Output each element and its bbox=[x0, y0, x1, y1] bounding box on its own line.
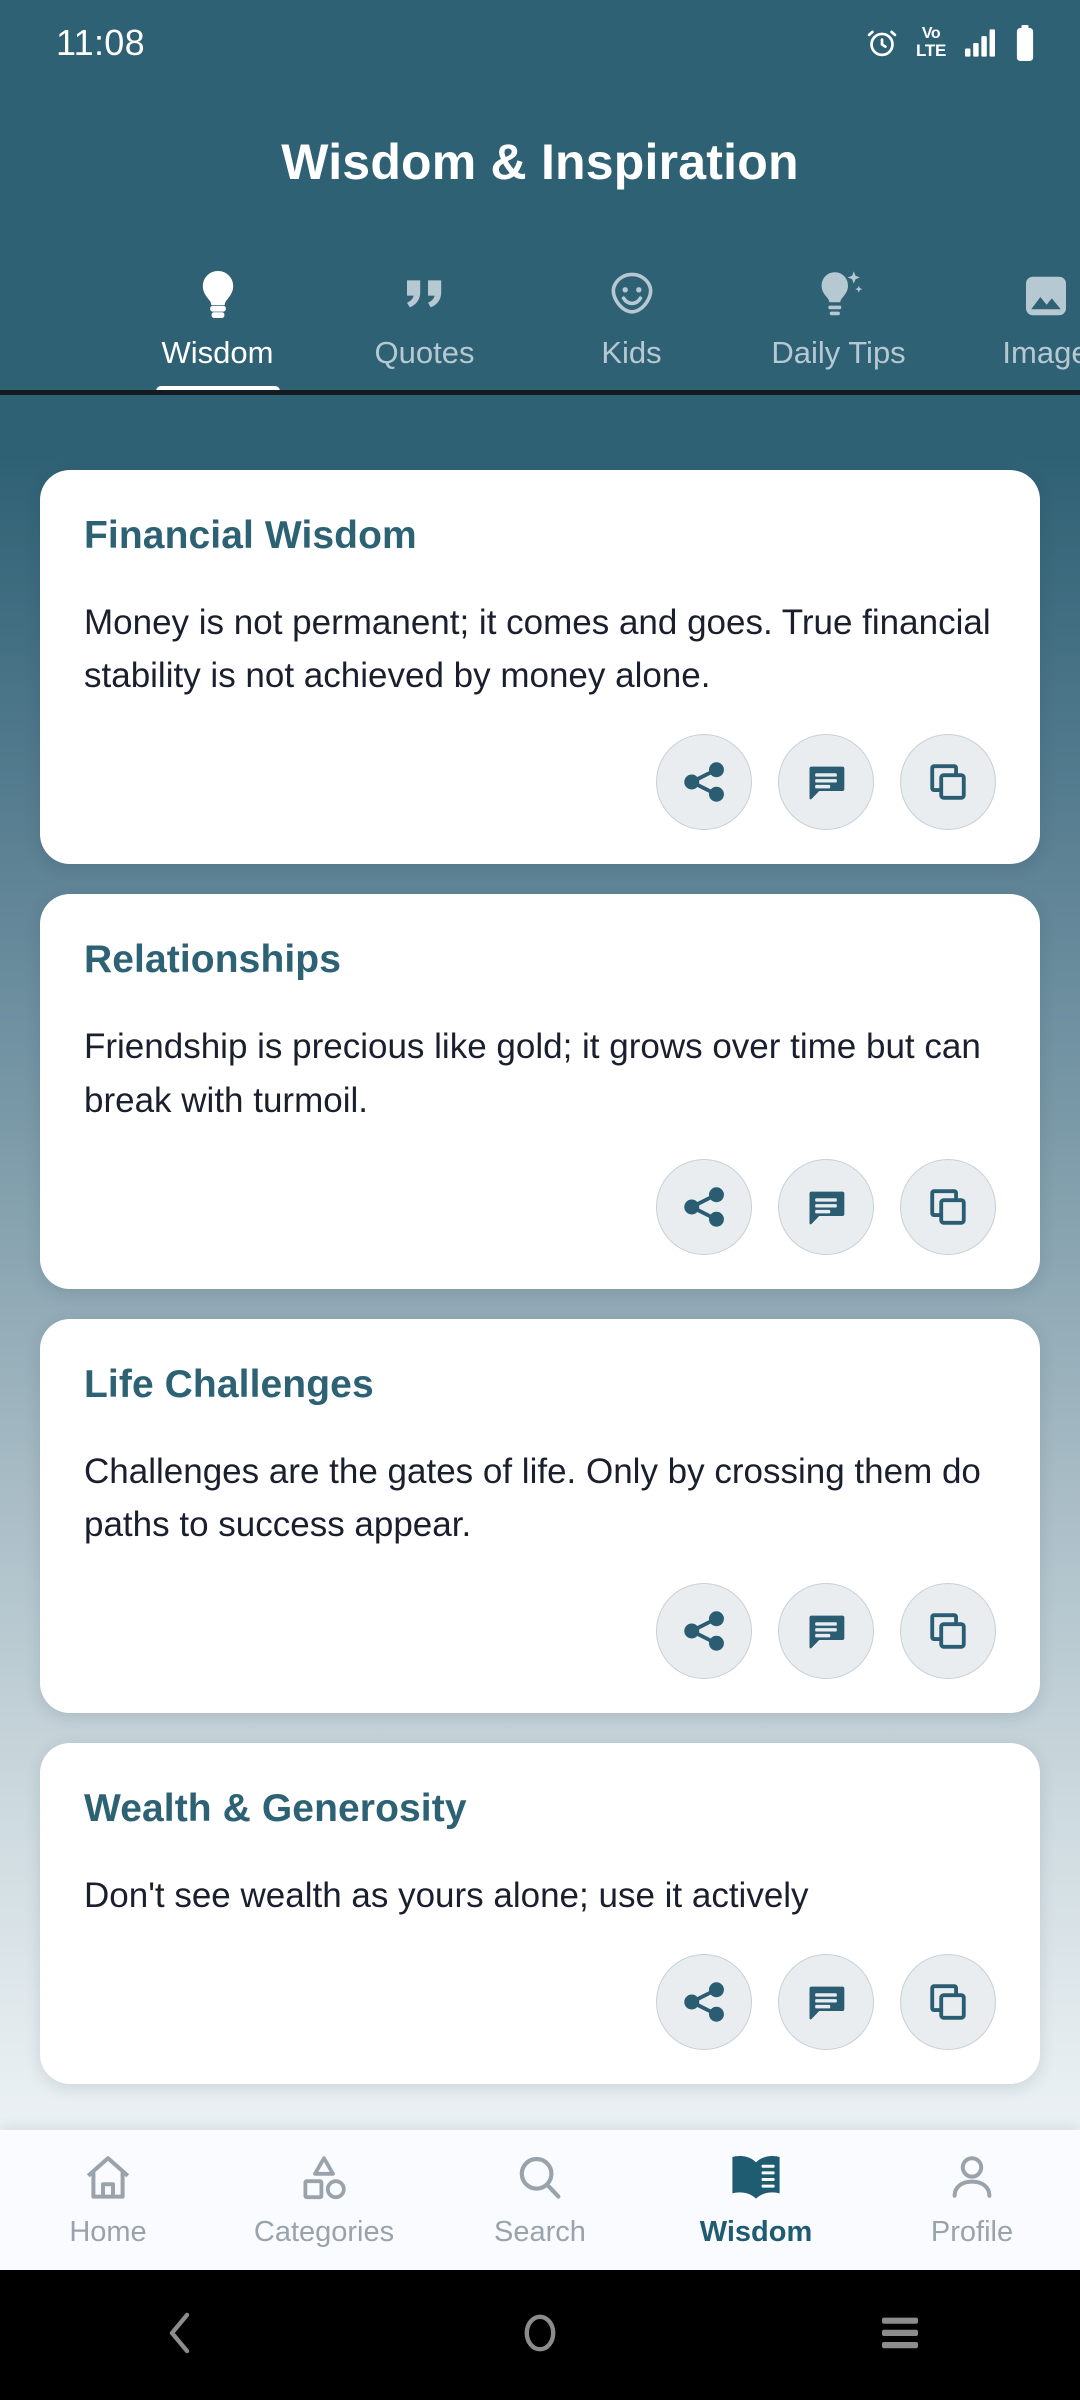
tab-image[interactable]: Image bbox=[942, 267, 1080, 395]
nav-item-profile[interactable]: Profile bbox=[864, 2151, 1080, 2249]
status-bar: 11:08 Vo LTE bbox=[0, 0, 1080, 85]
comment-icon bbox=[804, 1185, 848, 1229]
comment-button[interactable] bbox=[778, 734, 874, 830]
nav-label: Home bbox=[69, 2216, 146, 2249]
card-title: Relationships bbox=[84, 938, 996, 982]
smiley-face-icon bbox=[607, 267, 657, 325]
card-title: Life Challenges bbox=[84, 1363, 996, 1407]
comment-button[interactable] bbox=[778, 1159, 874, 1255]
nav-item-wisdom[interactable]: Wisdom bbox=[648, 2151, 864, 2249]
copy-button[interactable] bbox=[900, 734, 996, 830]
battery-icon bbox=[1014, 25, 1036, 61]
comment-icon bbox=[804, 1980, 848, 2024]
share-button[interactable] bbox=[656, 1954, 752, 2050]
copy-icon bbox=[926, 760, 970, 804]
page-title: Wisdom & Inspiration bbox=[0, 85, 1080, 225]
wisdom-card[interactable]: Life Challenges Challenges are the gates… bbox=[40, 1319, 1040, 1713]
phone-screen: 11:08 Vo LTE bbox=[0, 0, 1080, 2400]
comment-icon bbox=[804, 760, 848, 804]
card-actions bbox=[84, 734, 996, 830]
tab-label: Quotes bbox=[375, 335, 475, 371]
quote-marks-icon bbox=[404, 267, 446, 325]
lightbulb-icon bbox=[196, 267, 240, 325]
android-navigation-bar[interactable] bbox=[0, 2270, 1080, 2400]
image-icon bbox=[1022, 267, 1070, 325]
tab-label: Wisdom bbox=[162, 335, 274, 371]
home-icon bbox=[83, 2151, 133, 2205]
alarm-icon bbox=[865, 26, 899, 60]
tab-strip[interactable]: Wisdom Quotes bbox=[0, 225, 1080, 395]
card-actions bbox=[84, 1159, 996, 1255]
tab-quotes[interactable]: Quotes bbox=[321, 267, 528, 395]
share-icon bbox=[681, 1184, 727, 1230]
tab-label: Daily Tips bbox=[771, 335, 905, 371]
copy-icon bbox=[926, 1980, 970, 2024]
nav-label: Wisdom bbox=[700, 2216, 813, 2249]
share-icon bbox=[681, 1979, 727, 2025]
comment-button[interactable] bbox=[778, 1583, 874, 1679]
status-icons: Vo LTE bbox=[865, 25, 1036, 61]
tab-wisdom[interactable]: Wisdom bbox=[114, 267, 321, 395]
tab-label: Kids bbox=[601, 335, 661, 371]
card-actions bbox=[84, 1583, 996, 1679]
share-button[interactable] bbox=[656, 1583, 752, 1679]
card-body: Money is not permanent; it comes and goe… bbox=[84, 596, 996, 702]
card-body: Friendship is precious like gold; it gro… bbox=[84, 1020, 996, 1126]
wisdom-card-list[interactable]: Financial Wisdom Money is not permanent;… bbox=[0, 440, 1080, 2130]
copy-button[interactable] bbox=[900, 1159, 996, 1255]
comment-button[interactable] bbox=[778, 1954, 874, 2050]
card-body: Challenges are the gates of life. Only b… bbox=[84, 1445, 996, 1551]
bottom-navigation[interactable]: Home Categories Search bbox=[0, 2130, 1080, 2270]
back-chevron-icon bbox=[159, 2309, 201, 2362]
tab-label: Image bbox=[1002, 335, 1080, 371]
wisdom-card[interactable]: Financial Wisdom Money is not permanent;… bbox=[40, 470, 1040, 864]
home-button[interactable] bbox=[360, 2309, 720, 2362]
card-title: Wealth & Generosity bbox=[84, 1787, 996, 1831]
nav-label: Categories bbox=[254, 2216, 394, 2249]
volte-icon: Vo LTE bbox=[916, 26, 946, 59]
share-icon bbox=[681, 759, 727, 805]
nav-item-home[interactable]: Home bbox=[0, 2151, 216, 2249]
card-body: Don't see wealth as yours alone; use it … bbox=[84, 1869, 996, 1922]
back-button[interactable] bbox=[0, 2309, 360, 2362]
search-icon bbox=[515, 2151, 565, 2205]
nav-label: Profile bbox=[931, 2216, 1013, 2249]
share-button[interactable] bbox=[656, 1159, 752, 1255]
nav-label: Search bbox=[494, 2216, 586, 2249]
shapes-icon bbox=[299, 2151, 349, 2205]
signal-icon bbox=[963, 28, 997, 58]
tab-divider bbox=[0, 390, 1080, 395]
tab-kids[interactable]: Kids bbox=[528, 267, 735, 395]
person-icon bbox=[947, 2151, 997, 2205]
card-actions bbox=[84, 1954, 996, 2050]
status-time: 11:08 bbox=[56, 22, 145, 64]
comment-icon bbox=[804, 1609, 848, 1653]
tab-daily-tips[interactable]: Daily Tips bbox=[735, 267, 942, 395]
app-bar: Wisdom & Inspiration Wisdom bbox=[0, 85, 1080, 395]
recents-menu-icon bbox=[878, 2314, 922, 2357]
share-button[interactable] bbox=[656, 734, 752, 830]
wisdom-card[interactable]: Wealth & Generosity Don't see wealth as … bbox=[40, 1743, 1040, 2084]
home-circle-icon bbox=[518, 2309, 562, 2362]
book-icon bbox=[729, 2151, 783, 2205]
share-icon bbox=[681, 1608, 727, 1654]
lightbulb-sparkle-icon bbox=[814, 267, 864, 325]
recents-button[interactable] bbox=[720, 2314, 1080, 2357]
copy-icon bbox=[926, 1185, 970, 1229]
copy-button[interactable] bbox=[900, 1583, 996, 1679]
nav-item-search[interactable]: Search bbox=[432, 2151, 648, 2249]
copy-icon bbox=[926, 1609, 970, 1653]
nav-item-categories[interactable]: Categories bbox=[216, 2151, 432, 2249]
card-title: Financial Wisdom bbox=[84, 514, 996, 558]
copy-button[interactable] bbox=[900, 1954, 996, 2050]
wisdom-card[interactable]: Relationships Friendship is precious lik… bbox=[40, 894, 1040, 1288]
